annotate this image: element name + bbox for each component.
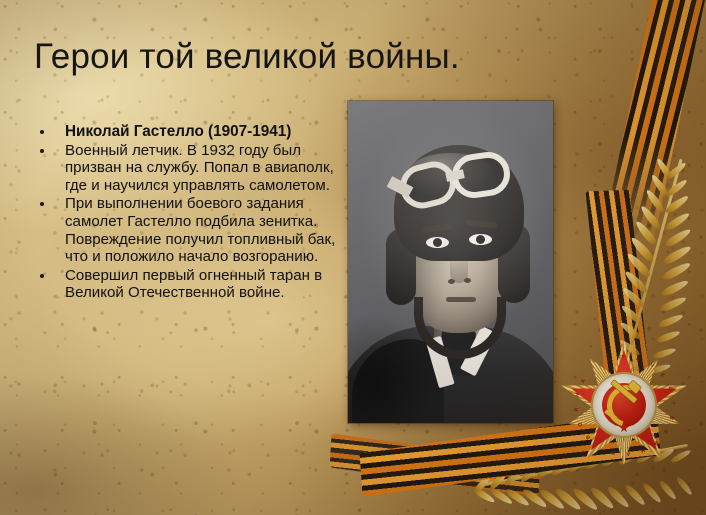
list-item: При выполнении боевого задания самолет Г… — [34, 195, 349, 265]
medal-ring-letter: Е — [661, 428, 668, 434]
ribbon-stripes — [603, 0, 706, 237]
medal-ring-letter: Е — [635, 355, 640, 362]
laurel-leaf — [625, 251, 652, 279]
list-item-text: При выполнении боевого задания самолет Г… — [65, 195, 349, 265]
laurel-leaf — [662, 243, 693, 265]
laurel-leaf — [521, 488, 548, 510]
laurel-leaf — [503, 463, 527, 487]
bullet-dot-icon — [40, 149, 44, 153]
photo-vignette — [348, 101, 553, 423]
laurel-leaf — [665, 161, 687, 181]
ribbon-stripes — [330, 433, 541, 496]
medal-ring-letter: Н — [640, 446, 646, 453]
laurel-leaf — [665, 177, 689, 197]
laurel-leaf — [472, 487, 496, 505]
st-george-ribbon-right — [603, 0, 706, 237]
list-item: Военный летчик. В 1932 году был призван … — [34, 142, 349, 195]
laurel-leaf — [571, 486, 599, 512]
medal-ring-letter: В — [667, 415, 674, 420]
list-item-text: Николай Гастелло (1907-1941) — [65, 123, 349, 141]
page-title: Герои той великой войны. — [34, 39, 460, 76]
bullet-dot-icon — [40, 274, 44, 278]
laurel-leaf — [663, 227, 692, 249]
medal-ring-letter: А — [579, 378, 586, 384]
laurel-leaf — [489, 487, 514, 506]
medal-ring-letter: О — [606, 356, 612, 363]
laurel-leaf — [624, 483, 647, 507]
presentation-slide: Герои той великой войны. Николай Гастелл… — [0, 0, 706, 515]
laurel-leaf — [629, 235, 656, 263]
medal-ring-letter: Е — [658, 372, 665, 378]
laurel-leaf — [644, 188, 666, 214]
laurel-leaf — [664, 194, 690, 215]
laurel-leaf — [472, 473, 492, 495]
laurel-leaf — [659, 295, 687, 313]
laurel-leaf — [589, 486, 615, 511]
laurel-leaf — [639, 204, 662, 230]
laurel-leaf — [538, 487, 566, 511]
laurel-leaf — [519, 459, 544, 484]
medal-ring-letter: Й — [574, 407, 580, 411]
bullet-list: Николай Гастелло (1907-1941) Военный лет… — [34, 123, 349, 303]
medal-ring-letter: Т — [669, 401, 675, 404]
laurel-leaf — [657, 312, 684, 328]
medal-ring-letter: Н — [574, 392, 581, 397]
laurel-leaf — [606, 485, 631, 510]
laurel-leaf — [620, 303, 644, 325]
order-of-patriotic-war-medal: ОТЕЧЕСТВЕННАЯ ВОЙНА — [549, 331, 699, 481]
laurel-leaf — [661, 260, 692, 282]
laurel-leaf — [664, 210, 691, 232]
medal-ring-letter: А — [626, 450, 630, 456]
medal-ring-letter: В — [585, 433, 592, 440]
bullet-dot-icon — [40, 130, 44, 134]
laurel-leaf — [634, 219, 659, 246]
medal-ring-letter: Т — [621, 354, 624, 360]
portrait-photo — [348, 101, 553, 423]
list-item: Николай Гастелло (1907-1941) — [34, 123, 349, 141]
laurel-leaf — [505, 487, 531, 508]
laurel-leaf — [488, 468, 510, 491]
laurel-leaf — [641, 481, 663, 504]
bullet-dot-icon — [40, 202, 44, 206]
laurel-leaf — [621, 286, 646, 310]
laurel-leaf — [554, 487, 583, 513]
laurel-leaf — [660, 278, 689, 298]
laurel-leaf — [623, 269, 649, 295]
laurel-leaf — [655, 157, 673, 180]
medal-ring-letter: Я — [611, 448, 616, 455]
list-item-text: Военный летчик. В 1932 году был призван … — [65, 142, 349, 195]
laurel-leaf — [658, 479, 678, 501]
list-item-text: Совершил первый огненный таран в Великой… — [65, 267, 349, 302]
laurel-leaf — [650, 173, 670, 197]
list-item: Совершил первый огненный таран в Великой… — [34, 267, 349, 302]
st-george-ribbon-bottom-back — [330, 433, 541, 496]
